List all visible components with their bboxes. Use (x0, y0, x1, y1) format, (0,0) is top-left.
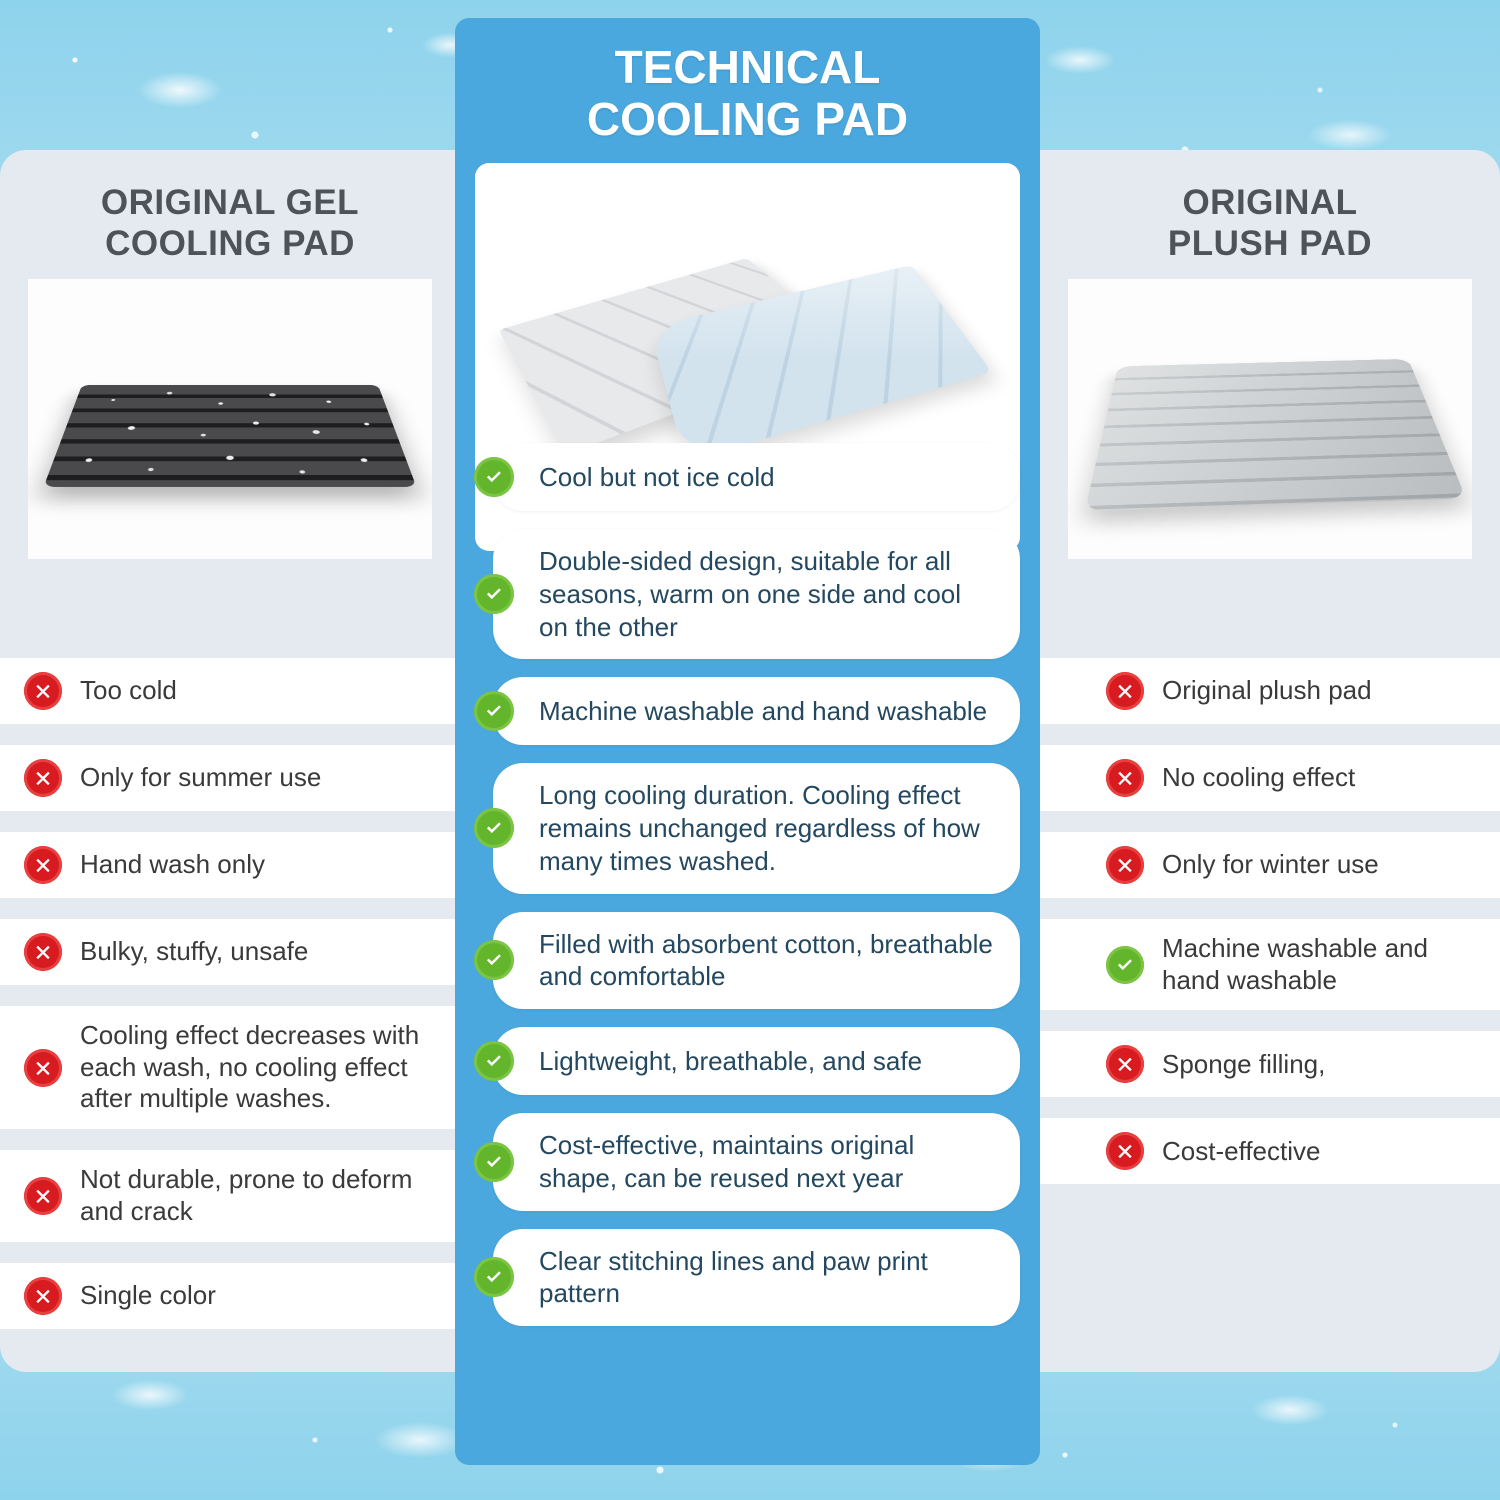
feature-text: Machine washable and hand washable (1162, 933, 1478, 996)
check-icon (474, 691, 514, 731)
feature-row: Not durable, prone to deform and crack (0, 1150, 460, 1241)
feature-text: Lightweight, breathable, and safe (539, 1045, 922, 1078)
cross-icon (24, 846, 62, 884)
left-column-title: ORIGINAL GEL COOLING PAD (0, 150, 460, 265)
cross-icon (24, 1277, 62, 1315)
plush-pad-illustration (1085, 359, 1466, 511)
feature-row: Cool but not ice cold (493, 443, 1020, 511)
feature-row: Cost-effective (1040, 1118, 1500, 1184)
feature-row: Lightweight, breathable, and safe (493, 1027, 1020, 1095)
plush-pad-photo (1068, 279, 1472, 559)
feature-row: Too cold (0, 658, 460, 724)
center-column-title: TECHNICAL COOLING PAD (455, 18, 1040, 145)
feature-text: Clear stitching lines and paw print patt… (539, 1245, 996, 1311)
check-icon (474, 457, 514, 497)
center-feature-list: Cool but not ice coldDouble-sided design… (455, 443, 1040, 1344)
feature-text: Cost-effective (1162, 1136, 1320, 1168)
feature-row: No cooling effect (1040, 745, 1500, 811)
right-column-title: ORIGINAL PLUSH PAD (1040, 150, 1500, 265)
feature-text: Only for summer use (80, 762, 321, 794)
check-icon (474, 1257, 514, 1297)
left-comparison-panel: ORIGINAL GEL COOLING PAD Too coldOnly fo… (0, 150, 460, 1372)
cross-icon (1106, 759, 1144, 797)
check-icon (1106, 946, 1144, 984)
feature-text: Too cold (80, 675, 177, 707)
feature-text: No cooling effect (1162, 762, 1355, 794)
feature-row: Only for summer use (0, 745, 460, 811)
feature-row: Bulky, stuffy, unsafe (0, 919, 460, 985)
feature-row: Single color (0, 1263, 460, 1329)
gel-pad-illustration (44, 385, 417, 487)
feature-row: Long cooling duration. Cooling effect re… (493, 763, 1020, 893)
cross-icon (1106, 846, 1144, 884)
feature-row: Cooling effect decreases with each wash,… (0, 1006, 460, 1129)
check-icon (474, 940, 514, 980)
gel-pad-photo (28, 279, 432, 559)
feature-row: Original plush pad (1040, 658, 1500, 724)
feature-text: Filled with absorbent cotton, breathable… (539, 928, 996, 994)
right-feature-list: Original plush padNo cooling effectOnly … (1040, 658, 1500, 1205)
right-comparison-panel: ORIGINAL PLUSH PAD Original plush padNo … (1040, 150, 1500, 1372)
cross-icon (24, 672, 62, 710)
feature-row: Hand wash only (0, 832, 460, 898)
feature-row: Only for winter use (1040, 832, 1500, 898)
feature-text: Cost-effective, maintains original shape… (539, 1129, 996, 1195)
feature-row: Filled with absorbent cotton, breathable… (493, 912, 1020, 1010)
feature-text: Cooling effect decreases with each wash,… (80, 1020, 438, 1115)
feature-row: Machine washable and hand washable (1040, 919, 1500, 1010)
feature-text: Single color (80, 1280, 216, 1312)
feature-row: Sponge filling, (1040, 1031, 1500, 1097)
feature-row: Double-sided design, suitable for all se… (493, 529, 1020, 659)
feature-text: Double-sided design, suitable for all se… (539, 545, 996, 643)
center-featured-panel: TECHNICAL COOLING PAD Cool but not ice c… (455, 18, 1040, 1465)
feature-text: Only for winter use (1162, 849, 1379, 881)
feature-row: Machine washable and hand washable (493, 677, 1020, 745)
cross-icon (24, 933, 62, 971)
feature-text: Sponge filling, (1162, 1049, 1325, 1081)
check-icon (474, 1041, 514, 1081)
cross-icon (24, 1177, 62, 1215)
feature-row: Clear stitching lines and paw print patt… (493, 1229, 1020, 1327)
cross-icon (24, 1049, 62, 1087)
cross-icon (1106, 1132, 1144, 1170)
feature-text: Not durable, prone to deform and crack (80, 1164, 438, 1227)
feature-text: Machine washable and hand washable (539, 695, 987, 728)
check-icon (474, 808, 514, 848)
feature-text: Original plush pad (1162, 675, 1372, 707)
check-icon (474, 1142, 514, 1182)
feature-text: Long cooling duration. Cooling effect re… (539, 779, 996, 877)
feature-text: Cool but not ice cold (539, 461, 775, 494)
feature-text: Bulky, stuffy, unsafe (80, 936, 308, 968)
feature-text: Hand wash only (80, 849, 265, 881)
cross-icon (24, 759, 62, 797)
left-feature-list: Too coldOnly for summer useHand wash onl… (0, 658, 460, 1350)
cross-icon (1106, 672, 1144, 710)
cross-icon (1106, 1045, 1144, 1083)
check-icon (474, 574, 514, 614)
feature-row: Cost-effective, maintains original shape… (493, 1113, 1020, 1211)
